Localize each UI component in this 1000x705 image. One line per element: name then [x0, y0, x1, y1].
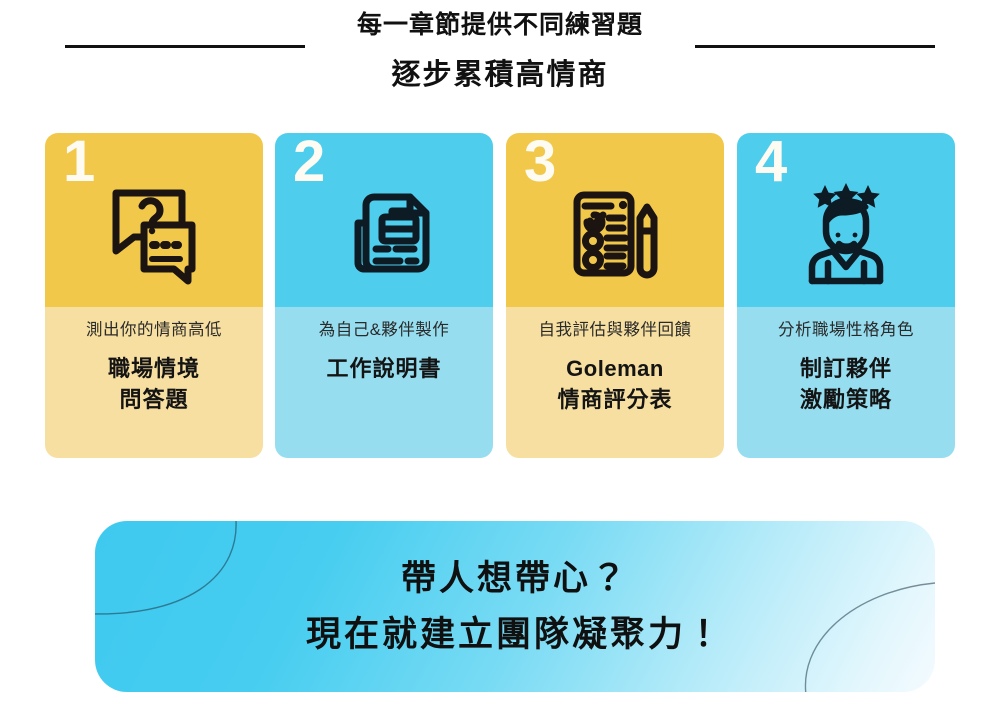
- header-rule-right: [695, 45, 935, 48]
- step-card-4-title-line2: 激勵策略: [745, 384, 947, 415]
- step-card-2-body: 為自己&夥伴製作 工作說明書: [275, 307, 493, 458]
- step-card-1-subtitle: 測出你的情商高低: [53, 319, 255, 343]
- step-card-1-title-line2: 問答題: [53, 384, 255, 415]
- cta-line-1: 帶人想帶心？: [306, 556, 724, 602]
- step-card-4-title-line1: 制訂夥伴: [745, 353, 947, 384]
- step-card-2-subtitle: 為自己&夥伴製作: [283, 319, 485, 343]
- step-cards-row: 1 測出你的情商高低 職場情境 問答題: [0, 133, 1000, 463]
- step-card-4-body: 分析職場性格角色 制訂夥伴 激勵策略: [737, 307, 955, 458]
- step-card-4[interactable]: 4: [737, 133, 955, 458]
- header-rule-left: [65, 45, 305, 48]
- step-card-3-top: 3: [506, 133, 724, 307]
- step-card-1-top: 1: [45, 133, 263, 307]
- cta-banner[interactable]: 帶人想帶心？ 現在就建立團隊凝聚力！: [95, 521, 935, 692]
- step-card-1[interactable]: 1 測出你的情商高低 職場情境 問答題: [45, 133, 263, 458]
- step-card-3-subtitle: 自我評估與夥伴回饋: [514, 319, 716, 343]
- header-subtitle: 每一章節提供不同練習題: [0, 10, 1000, 41]
- step-number-1: 1: [63, 133, 95, 191]
- step-card-2-title-line1: 工作說明書: [283, 353, 485, 384]
- step-card-1-body: 測出你的情商高低 職場情境 問答題: [45, 307, 263, 458]
- step-number-4: 4: [755, 133, 787, 191]
- checklist-pencil-icon: [559, 179, 671, 287]
- cta-banner-text: 帶人想帶心？ 現在就建立團隊凝聚力！: [306, 556, 724, 658]
- step-card-3-title: Goleman 情商評分表: [514, 353, 716, 415]
- infographic-page: 每一章節提供不同練習題 逐步累積高情商 1: [0, 0, 1000, 705]
- step-card-1-title-line1: 職場情境: [53, 353, 255, 384]
- step-card-1-title: 職場情境 問答題: [53, 353, 255, 415]
- step-card-2-top: 2: [275, 133, 493, 307]
- header: 每一章節提供不同練習題 逐步累積高情商: [0, 0, 1000, 110]
- cta-line-2: 現在就建立團隊凝聚力！: [306, 612, 724, 658]
- step-number-2: 2: [293, 133, 325, 191]
- step-card-3-title-line1: Goleman: [514, 353, 716, 384]
- document-briefcase-icon: [328, 179, 440, 287]
- person-three-stars-icon: [790, 179, 902, 287]
- page-title: 逐步累積高情商: [0, 57, 1000, 93]
- step-card-4-subtitle: 分析職場性格角色: [745, 319, 947, 343]
- step-card-3-body: 自我評估與夥伴回饋 Goleman 情商評分表: [506, 307, 724, 458]
- step-card-4-title: 制訂夥伴 激勵策略: [745, 353, 947, 415]
- step-card-2-title: 工作說明書: [283, 353, 485, 384]
- step-card-4-top: 4: [737, 133, 955, 307]
- step-card-3-title-line2: 情商評分表: [514, 384, 716, 415]
- step-card-2[interactable]: 2 為自己&夥伴製作 工作說明: [275, 133, 493, 458]
- speech-bubbles-question-icon: [98, 179, 210, 287]
- step-card-3[interactable]: 3: [506, 133, 724, 458]
- step-number-3: 3: [524, 133, 556, 191]
